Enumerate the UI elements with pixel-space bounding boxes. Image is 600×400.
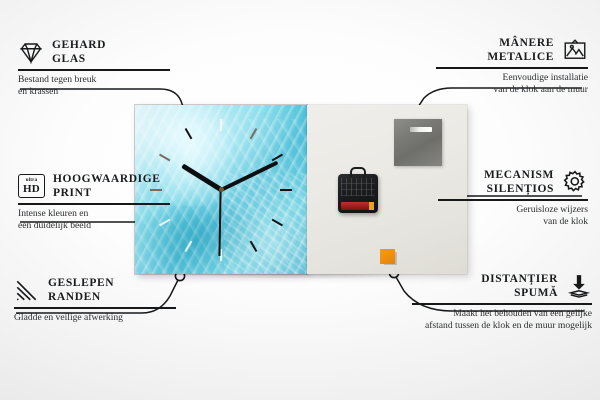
feature-distantier-spuma: DISTANȚIER SPUMĂ Maakt het behouden van …	[404, 272, 592, 332]
feature-divider	[436, 67, 588, 69]
product-infographic: GEHARD GLAS Bestand tegen breuk en krass…	[0, 0, 600, 400]
feature-divider	[18, 203, 170, 205]
feature-title: GESLEPEN RANDEN	[48, 276, 114, 304]
arrow-down-layers-icon	[566, 273, 592, 299]
feature-manere-metalice: MÂNERE METALICE Eenvoudige installatie v…	[428, 36, 588, 96]
bevel-edge-icon	[14, 277, 40, 303]
feature-title: MECANISM SILENȚIOS	[484, 168, 554, 196]
hand-center-pin	[219, 187, 224, 192]
feature-divider	[14, 307, 176, 309]
mechanism-texture	[341, 178, 375, 196]
battery-terminal	[369, 202, 374, 210]
diamond-icon	[18, 39, 44, 65]
feature-geslepen-randen: GESLEPEN RANDEN Gladde en veilige afwerk…	[14, 276, 192, 324]
battery	[341, 202, 371, 210]
metal-hanger-plate	[394, 119, 442, 166]
gear-icon	[562, 169, 588, 195]
feature-description: Geruisloze wijzers van de klok	[430, 204, 588, 229]
ultra-hd-icon: ultra HD	[18, 174, 45, 198]
feature-description: Intense kleuren en een duidelijk beeld	[18, 208, 186, 233]
foam-spacer	[380, 249, 395, 264]
feature-description: Eenvoudige installatie van de klok aan d…	[428, 72, 588, 97]
feature-description: Gladde en veilige afwerking	[14, 312, 192, 324]
feature-title: GEHARD GLAS	[52, 38, 106, 66]
quartz-mechanism	[338, 174, 378, 213]
picture-frame-icon	[562, 37, 588, 63]
feature-hoogwaardige-print: ultra HD HOOGWAARDIGE PRINT Intense kleu…	[18, 172, 186, 232]
feature-description: Bestand tegen breuk en krassen	[18, 74, 186, 99]
feature-divider	[18, 69, 170, 71]
feature-mecanism-silentios: MECANISM SILENȚIOS Geruisloze wijzers va…	[430, 168, 588, 228]
feature-title: MÂNERE METALICE	[487, 36, 554, 64]
feature-divider	[412, 303, 592, 305]
feature-title: DISTANȚIER SPUMĂ	[481, 272, 558, 300]
hanger-slot	[410, 127, 432, 132]
feature-title: HOOGWAARDIGE PRINT	[53, 172, 161, 200]
feature-gehard-glas: GEHARD GLAS Bestand tegen breuk en krass…	[18, 38, 186, 98]
feature-description: Maakt het behouden van een gelijke afsta…	[404, 308, 592, 333]
feature-divider	[438, 199, 588, 201]
mechanism-hanger-loop	[350, 167, 366, 177]
